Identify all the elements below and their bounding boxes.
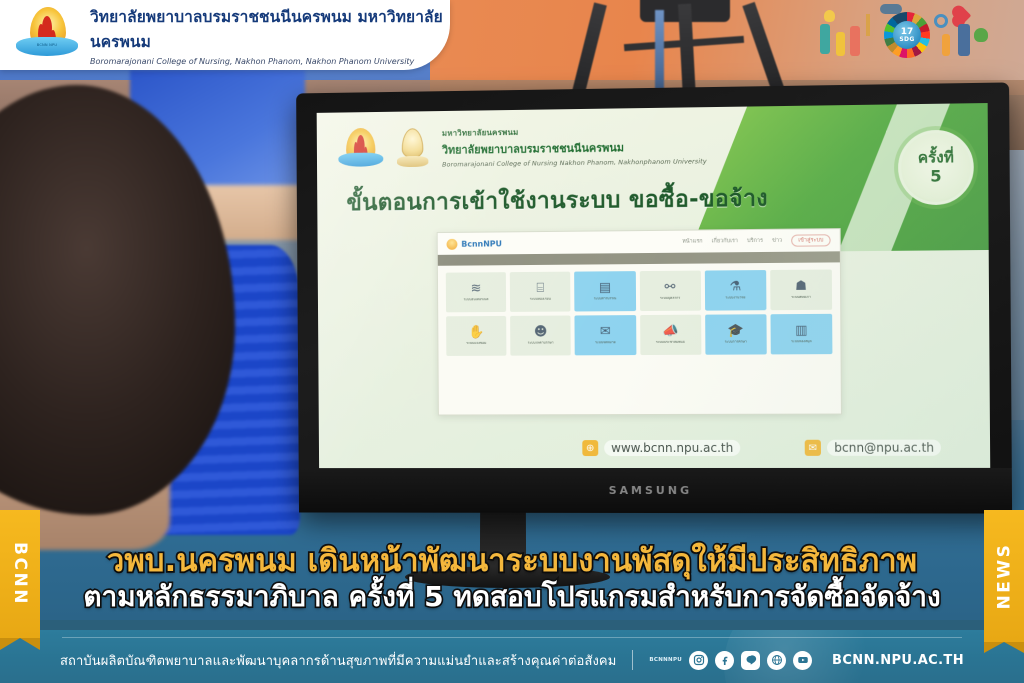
- presentation-slide: มหาวิทยาลัยนครพนม วิทยาลัยพยาบาลบรมราชชน…: [317, 103, 991, 468]
- header-text: วิทยาลัยพยาบาลบรมราชชนนีนครพนม มหาวิทยาล…: [90, 4, 450, 66]
- portal-tile-label: ระบบอินเทอร์เน็ต: [462, 298, 491, 302]
- library-icon: ▥: [795, 324, 808, 337]
- person-figure: [850, 26, 860, 56]
- portal-tile-label: ระบบสารบรรณ: [592, 297, 619, 301]
- person-figure: [820, 24, 830, 54]
- portal-tile[interactable]: ⚯ระบบบุคลากร: [639, 271, 700, 311]
- people-sync-icon: ⚯: [664, 281, 675, 294]
- portal-nav-item[interactable]: ข่าว: [772, 237, 782, 245]
- portal-tile-label: ระบบแจ้งซ่อม: [464, 342, 488, 346]
- megaphone-icon: 📣: [662, 325, 678, 338]
- chat-icon: ☻: [534, 326, 548, 339]
- footer-slogan: สถาบันผลิตบัณฑิตพยาบาลและพัฒนาบุคลากรด้า…: [60, 650, 616, 671]
- portal-nav-item[interactable]: หน้าแรก: [682, 237, 702, 245]
- headline-line-2: ตามหลักธรรมาภิบาล ครั้งที่ 5 ทดสอบโปรแกร…: [83, 581, 940, 612]
- slide-college-name-en: Boromarajonani College of Nursing Nakhon…: [442, 157, 707, 168]
- projector-icon: ⌸: [536, 282, 544, 295]
- side-tab-news-notch: [984, 642, 1024, 653]
- slide-college-name: วิทยาลัยพยาบาลบรมราชชนนีนครพนม: [442, 137, 707, 158]
- logo-ribbon-label: BCNN NPU: [16, 43, 78, 47]
- portal-nav: หน้าแรก เกี่ยวกับเรา บริการ ข่าว เข้าสู่…: [682, 234, 830, 247]
- nursing-lamp-emblem-icon: BCNN NPU: [16, 5, 78, 65]
- lightbulb-icon: [824, 10, 835, 22]
- portal-tile[interactable]: 🎓ระบบการศึกษา: [705, 314, 767, 354]
- tripod-pole: [655, 10, 664, 98]
- hand-icon: ✋: [468, 326, 484, 339]
- portal-tile[interactable]: ✋ระบบแจ้งซ่อม: [446, 316, 506, 356]
- nursing-lamp-emblem-icon: [338, 126, 383, 174]
- doc-icon: ▤: [599, 281, 611, 294]
- portal-tile-label: ระบบการศึกษา: [723, 341, 749, 345]
- gear-icon: [934, 14, 948, 28]
- person-figure: [836, 32, 845, 56]
- portal-tile[interactable]: ▥ระบบห้องสมุด: [770, 314, 832, 355]
- side-tab-news-label: NEWS: [994, 543, 1014, 610]
- footer-bar: สถาบันผลิตบัณฑิตพยาบาลและพัฒนาบุคลากรด้า…: [0, 630, 1024, 683]
- slide-website-item: ⊕ www.bcnn.npu.ac.th: [582, 440, 740, 456]
- portal-tile-label: ระบบงานวิจัย: [723, 296, 747, 300]
- heart-icon: [954, 7, 972, 25]
- research-icon: ⚗: [729, 280, 741, 293]
- envelope-icon: ✉: [805, 440, 821, 456]
- portal-tile[interactable]: ▤ระบบสารบรรณ: [574, 271, 635, 311]
- mail-icon: ✉: [600, 325, 611, 338]
- portal-tile[interactable]: ≋ระบบอินเทอร์เน็ต: [446, 272, 506, 312]
- sdg-globe-icon: 17 SDG: [893, 21, 921, 49]
- portal-nav-item[interactable]: เกี่ยวกับเรา: [712, 237, 738, 245]
- wifi-icon: ≋: [471, 282, 482, 295]
- portal-tile[interactable]: ⌸ระบบห้องเรียน: [510, 272, 571, 312]
- footer-website[interactable]: BCNN.NPU.AC.TH: [832, 653, 964, 668]
- footer-divider: [632, 650, 633, 670]
- tree-icon: [974, 28, 988, 42]
- arrow-up-icon: [866, 14, 870, 36]
- headline-line-1: วพบ.นครพนม เดินหน้าพัฒนาระบบงานพัสดุให้ม…: [107, 544, 917, 579]
- sdg-label: SDG: [899, 37, 914, 43]
- portal-logo-icon: [447, 238, 458, 249]
- footer-social-links: BCNNNPU: [649, 651, 812, 670]
- portal-tile-label: ระบบให้คำปรึกษา: [526, 342, 556, 346]
- headline-block: วพบ.นครพนม เดินหน้าพัฒนาระบบงานพัสดุให้ม…: [40, 528, 984, 628]
- portal-tile[interactable]: ⚗ระบบงานวิจัย: [704, 270, 766, 311]
- portal-tile-label: ระบบศิษย์เก่า: [789, 296, 813, 300]
- slide-email: bcnn@npu.ac.th: [827, 440, 941, 456]
- side-tab-bcnn[interactable]: BCNN: [0, 510, 40, 638]
- computer-monitor: มหาวิทยาลัยนครพนม วิทยาลัยพยาบาลบรมราชชน…: [296, 82, 1012, 513]
- session-badge-number: 5: [930, 166, 942, 185]
- university-crown-icon: [393, 125, 433, 173]
- portal-tile-label: ระบบบุคลากร: [658, 297, 682, 301]
- portal-login-button[interactable]: เข้าสู่ระบบ: [791, 234, 831, 246]
- slide-email-item: ✉ bcnn@npu.ac.th: [805, 440, 941, 456]
- monitor-bezel-bottom: SAMSUNG: [299, 468, 1012, 514]
- portal-brand: BcnnNPU: [447, 238, 503, 249]
- portal-tile-label: ระบบห้องเรียน: [528, 298, 553, 302]
- monitor-brand-label: SAMSUNG: [609, 484, 692, 497]
- person-figure: [958, 24, 970, 56]
- portal-screenshot: BcnnNPU หน้าแรก เกี่ยวกับเรา บริการ ข่าว…: [437, 228, 842, 415]
- org-name-th: วิทยาลัยพยาบาลบรมราชชนนีนครพนม มหาวิทยาล…: [90, 4, 450, 54]
- session-badge-label: ครั้งที่: [918, 149, 954, 166]
- side-tab-bcnn-notch: [0, 638, 40, 650]
- slide-header: มหาวิทยาลัยนครพนม วิทยาลัยพยาบาลบรมราชชน…: [338, 119, 835, 173]
- globe-icon[interactable]: [767, 651, 786, 670]
- portal-tile-grid: ≋ระบบอินเทอร์เน็ต ⌸ระบบห้องเรียน ▤ระบบสา…: [438, 262, 841, 363]
- sdg-graphic: 17 SDG: [806, 6, 1006, 68]
- org-name-en: Boromarajonani College of Nursing, Nakho…: [90, 57, 450, 66]
- portal-tile[interactable]: ☻ระบบให้คำปรึกษา: [510, 316, 571, 356]
- slide-footer: ⊕ www.bcnn.npu.ac.th ✉ bcnn@npu.ac.th: [319, 433, 990, 462]
- header-banner: BCNN NPU วิทยาลัยพยาบาลบรมราชชนนีนครพนม …: [0, 0, 450, 70]
- slide-website: www.bcnn.npu.ac.th: [604, 440, 740, 456]
- instagram-icon[interactable]: [689, 651, 708, 670]
- portal-tile-label: ระบบประชาสัมพันธ์: [654, 341, 687, 345]
- portal-tile-label: ระบบจดหมาย: [593, 341, 617, 345]
- footer-divider-line: [62, 637, 962, 638]
- portal-nav-item[interactable]: บริการ: [747, 237, 763, 245]
- graduation-icon: 🎓: [727, 324, 743, 337]
- side-tab-bcnn-label: BCNN: [10, 542, 30, 606]
- monitor-screen: มหาวิทยาลัยนครพนม วิทยาลัยพยาบาลบรมราชชน…: [317, 103, 991, 468]
- globe-icon: ⊕: [582, 440, 598, 456]
- footer-mini-logo: BCNNNPU: [649, 657, 682, 663]
- slide-title: ขั้นตอนการเข้าใช้งานระบบ ขอซื้อ-ขอจ้าง: [346, 180, 855, 222]
- portal-tile[interactable]: ☗ระบบศิษย์เก่า: [770, 270, 832, 311]
- news-poster: มหาวิทยาลัยนครพนม วิทยาลัยพยาบาลบรมราชชน…: [0, 0, 1024, 683]
- portal-tile[interactable]: ✉ระบบจดหมาย: [575, 315, 636, 355]
- line-icon[interactable]: [741, 651, 760, 670]
- portal-brand-label: BcnnNPU: [461, 239, 502, 248]
- youtube-icon[interactable]: [793, 651, 812, 670]
- person-figure: [942, 34, 950, 56]
- side-tab-news[interactable]: NEWS: [984, 510, 1024, 642]
- portal-tile-label: ระบบห้องสมุด: [789, 340, 814, 344]
- portal-tile[interactable]: 📣ระบบประชาสัมพันธ์: [640, 315, 701, 355]
- facebook-icon[interactable]: [715, 651, 734, 670]
- group-icon: ☗: [795, 280, 807, 293]
